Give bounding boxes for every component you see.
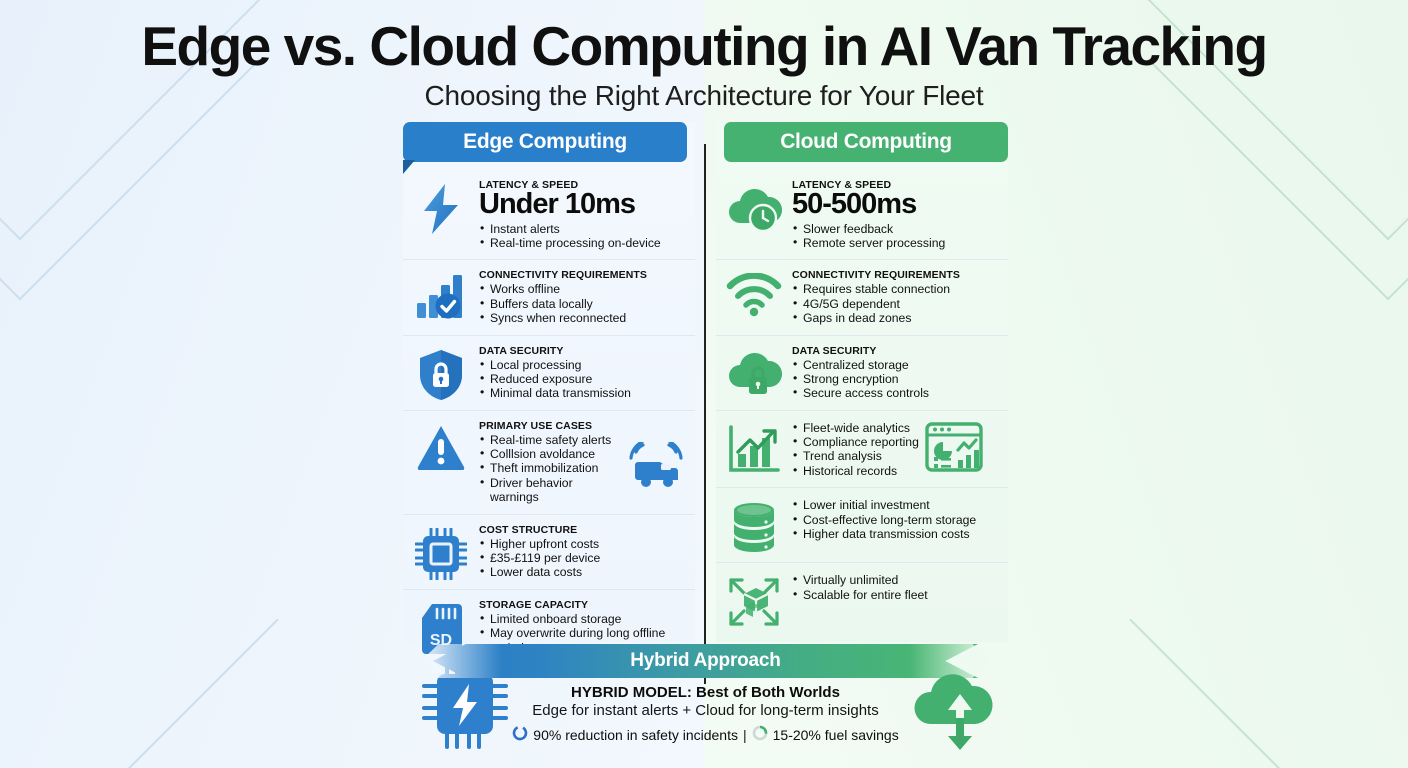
kicker: DATA SECURITY [479, 345, 685, 357]
cloud-row-latency-text: LATENCY & SPEED 50-500ms Slower feedback… [792, 179, 998, 250]
list-item: Theft immobilization [479, 461, 621, 475]
shield-lock-icon [411, 345, 471, 401]
kicker: DATA SECURITY [792, 345, 998, 357]
edge-row-latency[interactable]: LATENCY & SPEED Under 10ms Instant alert… [403, 170, 695, 260]
cloud-column-header-label: Cloud Computing [780, 130, 952, 154]
page-title: Edge vs. Cloud Computing in AI Van Track… [0, 18, 1408, 75]
cloud-column-header[interactable]: Cloud Computing [724, 122, 1008, 162]
list-item: Reduced exposure [479, 372, 685, 386]
bullet-list: Virtually unlimited Scalable for entire … [792, 573, 998, 602]
list-item: Remote server processing [792, 236, 998, 250]
bullet-list: Works offline Buffers data locally Syncs… [479, 282, 685, 325]
edge-column-header-label: Edge Computing [463, 130, 627, 154]
hybrid-subtitle: Edge for instant alerts + Cloud for long… [403, 702, 1008, 719]
hybrid-text-block: HYBRID MODEL: Best of Both Worlds Edge f… [403, 684, 1008, 744]
list-item: Secure access controls [792, 386, 998, 400]
big-value: Under 10ms [479, 190, 685, 220]
bullet-list: Slower feedback Remote server processing [792, 222, 998, 251]
list-item: Compliance reporting [792, 435, 919, 449]
list-item: Virtually unlimited [792, 573, 998, 587]
list-item: Slower feedback [792, 222, 998, 236]
connected-van-icon [627, 442, 685, 495]
stat-fuel-label: 15-20% fuel savings [773, 727, 899, 743]
cloud-clock-icon [724, 179, 784, 233]
list-item: Colllsion avoldance [479, 447, 621, 461]
list-item: Limited onboard storage [479, 612, 685, 626]
title-block: Edge vs. Cloud Computing in AI Van Track… [0, 18, 1408, 112]
cloud-lock-icon [724, 345, 784, 399]
list-item: Driver behavior warnings [479, 476, 621, 505]
edge-row-use-cases-text: PRIMARY USE CASES Real-time safety alert… [479, 420, 685, 505]
kicker: CONNECTIVITY REQUIREMENTS [479, 269, 685, 281]
list-item: Cost-effective long-term storage [792, 513, 998, 527]
page-subtitle: Choosing the Right Architecture for Your… [0, 80, 1408, 112]
list-item: Real-time safety alerts [479, 433, 621, 447]
database-stack-icon [724, 497, 784, 553]
list-item: Strong encryption [792, 372, 998, 386]
wifi-icon [724, 269, 784, 317]
big-value: 50-500ms [792, 190, 998, 220]
cloud-row-cost[interactable]: Lower initial investment Cost-effective … [716, 488, 1008, 563]
list-item: Buffers data locally [479, 297, 685, 311]
list-item: Lower data costs [479, 565, 685, 579]
list-item: Trend analysis [792, 449, 919, 463]
cloud-row-storage-text: Virtually unlimited Scalable for entire … [792, 572, 998, 602]
cloud-row-use-cases[interactable]: Fleet-wide analytics Compliance reportin… [716, 411, 1008, 489]
list-item: £35-£119 per device [479, 551, 685, 565]
kicker: PRIMARY USE CASES [479, 420, 685, 432]
bullet-list: Local processing Reduced exposure Minima… [479, 358, 685, 401]
edge-row-latency-text: LATENCY & SPEED Under 10ms Instant alert… [479, 179, 685, 250]
comparison-board: Edge Computing Cloud Computing LATENCY &… [403, 122, 1008, 642]
list-item: Local processing [479, 358, 685, 372]
cloud-row-cost-text: Lower initial investment Cost-effective … [792, 497, 998, 541]
fuel-ring-icon [752, 725, 768, 744]
kicker: CONNECTIVITY REQUIREMENTS [792, 269, 998, 281]
kicker: COST STRUCTURE [479, 524, 685, 536]
list-item: Gaps in dead zones [792, 311, 998, 325]
signal-bars-check-icon [411, 269, 471, 319]
bullet-list: Higher upfront costs £35-£119 per device… [479, 537, 685, 580]
bullet-list: Requires stable connection 4G/5G depende… [792, 282, 998, 325]
list-item: Scalable for entire fleet [792, 588, 998, 602]
cloud-row-latency[interactable]: LATENCY & SPEED 50-500ms Slower feedback… [716, 170, 1008, 260]
edge-row-security[interactable]: DATA SECURITY Local processing Reduced e… [403, 336, 695, 411]
edge-column-header[interactable]: Edge Computing [403, 122, 687, 162]
list-item: Syncs when reconnected [479, 311, 685, 325]
scalable-boxes-icon [724, 572, 784, 628]
edge-row-security-text: DATA SECURITY Local processing Reduced e… [479, 345, 685, 401]
list-item: Higher upfront costs [479, 537, 685, 551]
list-item: Minimal data transmission [479, 386, 685, 400]
list-item: Requires stable connection [792, 282, 998, 296]
edge-row-use-cases[interactable]: PRIMARY USE CASES Real-time safety alert… [403, 411, 695, 515]
edge-row-connectivity[interactable]: CONNECTIVITY REQUIREMENTS Works offline … [403, 260, 695, 335]
lightning-bolt-icon [411, 179, 471, 235]
cloud-rows: LATENCY & SPEED 50-500ms Slower feedback… [716, 170, 1008, 637]
cloud-row-connectivity-text: CONNECTIVITY REQUIREMENTS Requires stabl… [792, 269, 998, 325]
safety-ring-icon [512, 725, 528, 744]
list-item: 4G/5G dependent [792, 297, 998, 311]
stat-separator: | [743, 727, 747, 743]
edge-row-cost-text: COST STRUCTURE Higher upfront costs £35-… [479, 524, 685, 580]
list-item: Historical records [792, 464, 919, 478]
list-item: Instant alerts [479, 222, 685, 236]
hybrid-stats: 90% reduction in safety incidents | 15-2… [403, 725, 1008, 744]
column-divider [704, 144, 706, 684]
list-item: Real-time processing on-device [479, 236, 685, 250]
edge-rows: LATENCY & SPEED Under 10ms Instant alert… [403, 170, 695, 664]
hybrid-banner[interactable]: Hybrid Approach [433, 644, 978, 678]
cloud-row-security-text: DATA SECURITY Centralized storage Strong… [792, 345, 998, 401]
warning-triangle-icon [411, 420, 471, 470]
list-item: Higher data transmission costs [792, 527, 998, 541]
list-item: Lower initial investment [792, 498, 998, 512]
edge-row-connectivity-text: CONNECTIVITY REQUIREMENTS Works offline … [479, 269, 685, 325]
bullet-list: Centralized storage Strong encryption Se… [792, 358, 998, 401]
kicker: STORAGE CAPACITY [479, 599, 685, 611]
bullet-list: Real-time safety alerts Colllsion avolda… [479, 433, 621, 505]
list-item: Fleet-wide analytics [792, 421, 919, 435]
bullet-list: Lower initial investment Cost-effective … [792, 498, 998, 541]
dashboard-window-icon [925, 422, 983, 477]
hybrid-title: HYBRID MODEL: Best of Both Worlds [403, 684, 1008, 701]
growth-chart-icon [724, 420, 784, 476]
list-item: Works offline [479, 282, 685, 296]
edge-row-cost[interactable]: COST STRUCTURE Higher upfront costs £35-… [403, 515, 695, 590]
cloud-row-use-cases-text: Fleet-wide analytics Compliance reportin… [792, 420, 998, 479]
list-item: Centralized storage [792, 358, 998, 372]
cpu-chip-icon [411, 524, 471, 580]
cloud-row-storage[interactable]: Virtually unlimited Scalable for entire … [716, 563, 1008, 637]
hybrid-section: Hybrid Approach HYBRID MODEL: Best of Bo… [403, 640, 1008, 766]
bullet-list: Instant alerts Real-time processing on-d… [479, 222, 685, 251]
stat-safety-label: 90% reduction in safety incidents [533, 727, 738, 743]
bullet-list: Fleet-wide analytics Compliance reportin… [792, 421, 919, 479]
hybrid-banner-label: Hybrid Approach [630, 650, 780, 672]
cloud-row-security[interactable]: DATA SECURITY Centralized storage Strong… [716, 336, 1008, 411]
cloud-row-connectivity[interactable]: CONNECTIVITY REQUIREMENTS Requires stabl… [716, 260, 1008, 335]
